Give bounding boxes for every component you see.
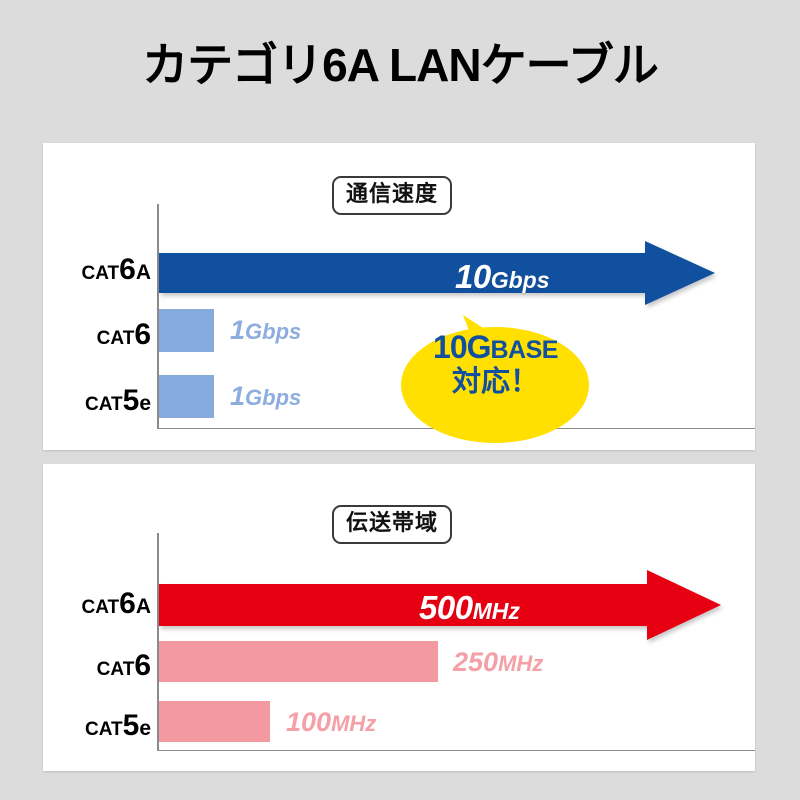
row-label-cat5e: CAT5e	[85, 711, 151, 741]
value-number: 1	[230, 315, 245, 345]
value-unit: MHz	[498, 651, 543, 676]
cat-prefix: CAT	[82, 263, 120, 284]
value-unit: MHz	[473, 598, 520, 624]
callout-line-2: 対応！	[401, 366, 590, 398]
value-unit: MHz	[331, 711, 376, 736]
callout-big-text: 10G	[433, 329, 490, 365]
value-number: 250	[453, 647, 498, 677]
cat-prefix: CAT	[82, 597, 120, 618]
bar-cat6-bandwidth	[159, 641, 438, 682]
cat-prefix: CAT	[97, 328, 135, 349]
cat-number: 6	[119, 253, 136, 286]
cat-prefix: CAT	[85, 719, 123, 740]
chart-axis-baseline	[157, 750, 755, 751]
cat-suffix: A	[136, 261, 151, 284]
row-label-cat5e: CAT5e	[85, 386, 151, 416]
value-number: 100	[286, 707, 331, 737]
cat-suffix: A	[136, 595, 151, 618]
cat-suffix: e	[139, 392, 151, 415]
bar-cat5e-speed	[159, 375, 214, 418]
row-label-cat6a: CAT6A	[82, 255, 152, 285]
bar-value-cat6-bandwidth: 250MHz	[453, 649, 543, 676]
bar-value-cat5e-bandwidth: 100MHz	[286, 709, 376, 736]
cat-prefix: CAT	[85, 394, 123, 415]
cat-number: 5	[123, 384, 140, 417]
bar-cat5e-bandwidth	[159, 701, 270, 742]
cat-suffix: e	[139, 717, 151, 740]
cat-prefix: CAT	[97, 659, 135, 680]
page-title: カテゴリ6A LANケーブル	[0, 42, 800, 88]
bar-value-cat6-speed: 1Gbps	[230, 317, 301, 344]
value-unit: Gbps	[245, 385, 301, 410]
value-unit: Gbps	[245, 319, 301, 344]
row-label-cat6: CAT6	[97, 320, 151, 350]
bar-value-cat5e-speed: 1Gbps	[230, 383, 301, 410]
panel-transmission-bandwidth: CAT6A 500MHz CAT6 250MHz CAT5e 100MHz 伝送…	[43, 464, 755, 771]
row-label-cat6: CAT6	[97, 651, 151, 681]
callout-line-1: 10GBASE	[401, 330, 590, 366]
callout-small-text: BASE	[491, 336, 558, 364]
section-label-transmission-bandwidth: 伝送帯域	[332, 505, 452, 544]
value-number: 1	[230, 381, 245, 411]
cat-number: 6	[119, 587, 136, 620]
cat-number: 5	[123, 709, 140, 742]
section-label-communication-speed: 通信速度	[332, 176, 452, 215]
bar-value-cat6a-bandwidth: 500MHz	[419, 591, 520, 624]
cat-number: 6	[134, 649, 151, 682]
panel-communication-speed: CAT6A 10Gbps CAT6 1Gbps CAT5e 1Gbps 通信速度	[43, 143, 755, 450]
cat-number: 6	[134, 318, 151, 351]
bar-cat6-speed	[159, 309, 214, 352]
callout-text: 10GBASE 対応！	[401, 330, 590, 398]
row-label-cat6a: CAT6A	[82, 589, 152, 619]
value-number: 500	[419, 589, 473, 626]
